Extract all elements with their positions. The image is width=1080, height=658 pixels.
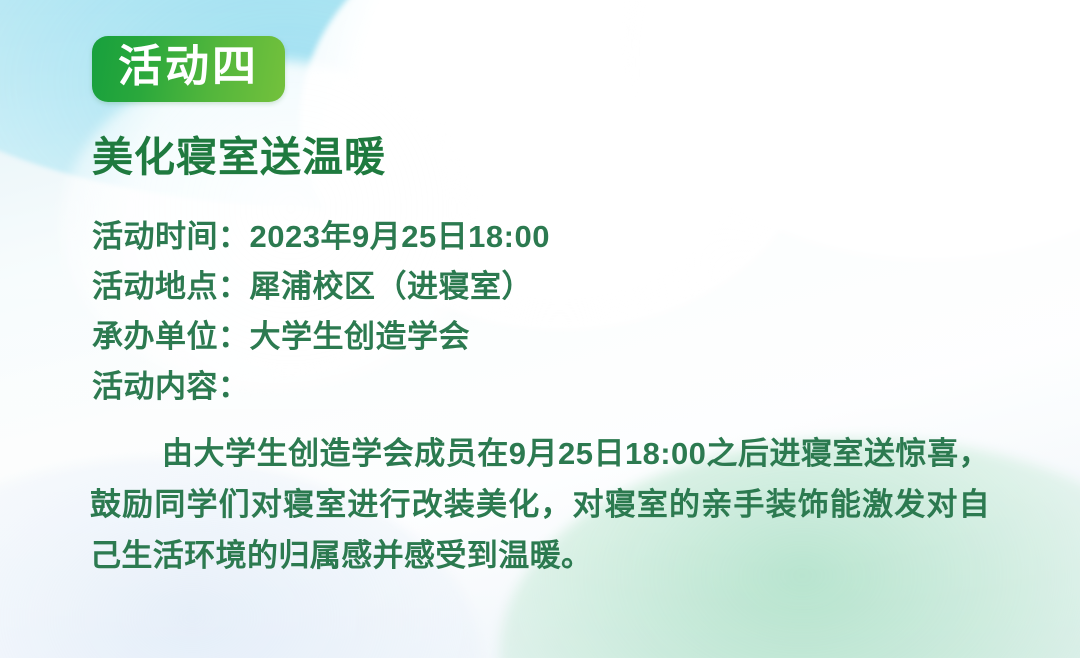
- info-row-location: 活动地点：犀浦校区（进寝室）: [92, 262, 990, 312]
- activity-info-list: 活动时间：2023年9月25日18:00 活动地点：犀浦校区（进寝室） 承办单位…: [92, 212, 990, 412]
- activity-number-badge: 活动四: [92, 36, 285, 102]
- activity-number-badge-label: 活动四: [118, 42, 259, 92]
- info-row-organizer: 承办单位：大学生创造学会: [92, 312, 990, 362]
- poster-root: 活动四 美化寝室送温暖 活动时间：2023年9月25日18:00 活动地点：犀浦…: [0, 0, 1080, 658]
- info-row-content-label: 活动内容：: [92, 362, 990, 412]
- info-row-time: 活动时间：2023年9月25日18:00: [92, 212, 990, 262]
- activity-description-paragraph: 由大学生创造学会成员在9月25日18:00之后进寝室送惊喜，鼓励同学们对寝室进行…: [90, 428, 990, 581]
- poster-content: 活动四 美化寝室送温暖 活动时间：2023年9月25日18:00 活动地点：犀浦…: [0, 0, 1080, 581]
- page-title: 美化寝室送温暖: [92, 132, 990, 182]
